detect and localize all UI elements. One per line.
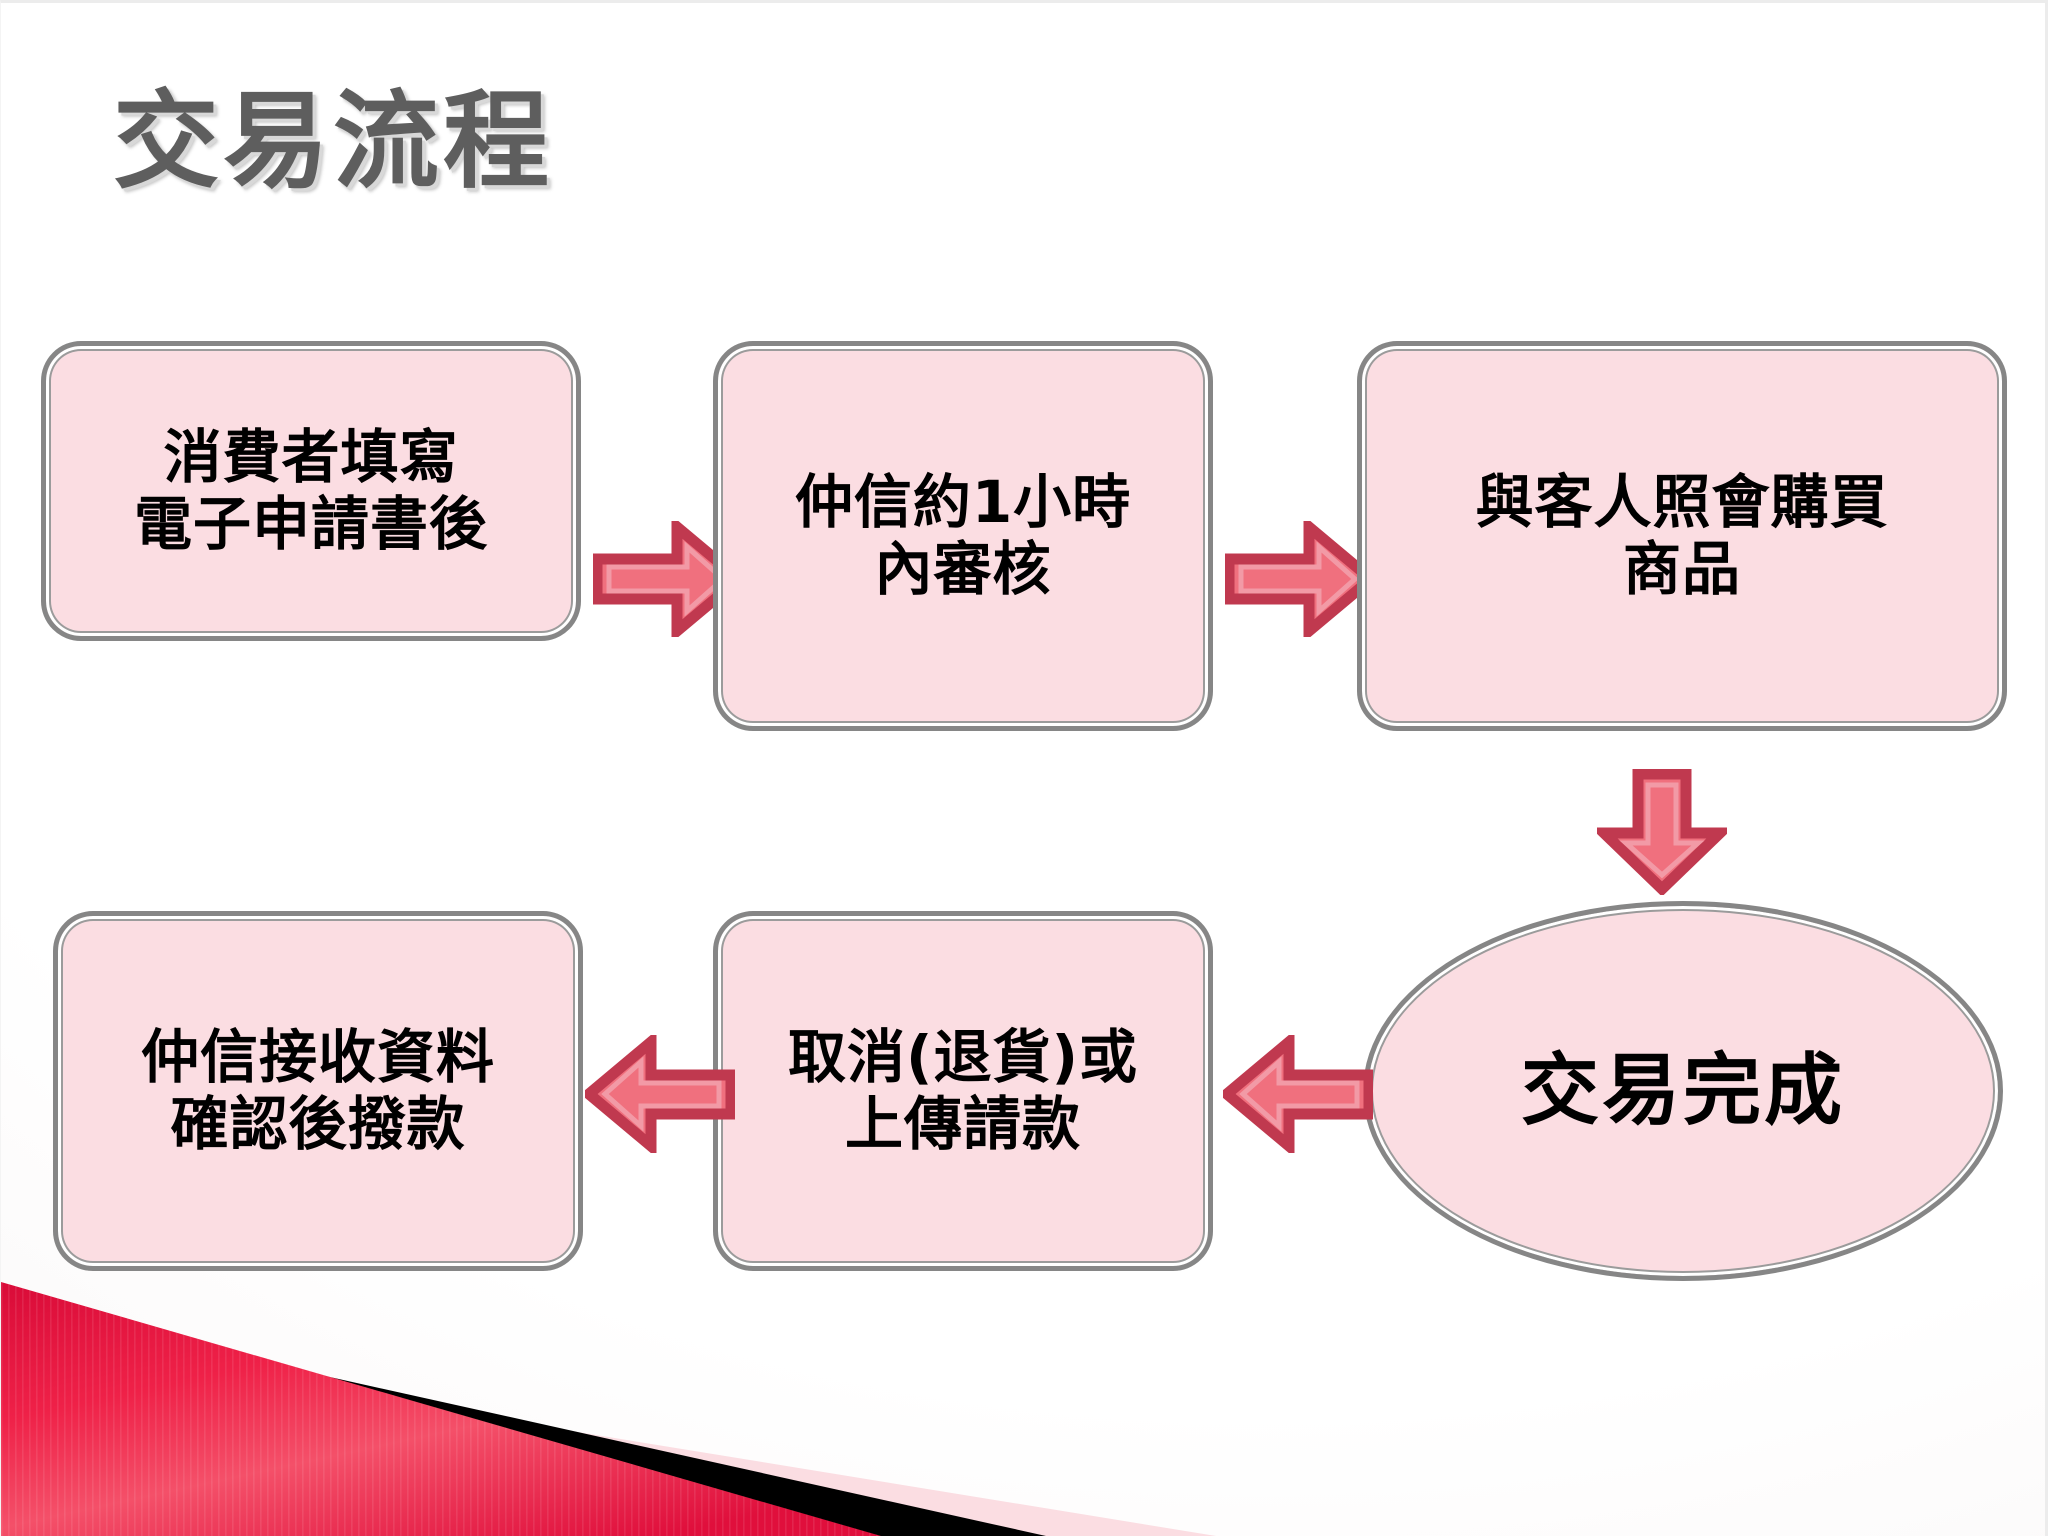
flow-node-label-step-4: 交易完成 [1507, 1046, 1859, 1136]
arrow-left-icon-4 [1223, 1035, 1373, 1153]
flow-node-label-step-1: 消費者填寫 電子申請書後 [120, 424, 502, 559]
flow-node-step-5[interactable]: 取消(退貨)或 上傳請款 [713, 911, 1213, 1271]
arrow-down-icon-3 [1597, 769, 1727, 895]
arrow-left-icon-5 [585, 1035, 735, 1153]
flow-node-label-step-2: 仲信約1小時 內審核 [781, 469, 1145, 604]
arrow-right-icon-2 [1225, 521, 1375, 637]
flow-node-label-step-5: 取消(退貨)或 上傳請款 [774, 1024, 1152, 1159]
slide-background [1, 3, 2045, 1536]
presentation-slide: 交易流程 消費者填寫 電子申請書後 仲信約1小時 內審核 與客人照會購買 商品 … [0, 0, 2048, 1536]
flow-node-label-step-3: 與客人照會購買 商品 [1461, 469, 1902, 604]
flow-node-step-3[interactable]: 與客人照會購買 商品 [1357, 341, 2007, 731]
flow-node-label-step-6: 仲信接收資料 確認後撥款 [127, 1024, 509, 1159]
flow-node-step-2[interactable]: 仲信約1小時 內審核 [713, 341, 1213, 731]
flow-node-step-4[interactable]: 交易完成 [1363, 901, 2003, 1281]
slide-decoration-corner [1, 1276, 1321, 1536]
flow-node-step-1[interactable]: 消費者填寫 電子申請書後 [41, 341, 581, 641]
page-title: 交易流程 [113, 81, 553, 203]
flow-node-step-6[interactable]: 仲信接收資料 確認後撥款 [53, 911, 583, 1271]
